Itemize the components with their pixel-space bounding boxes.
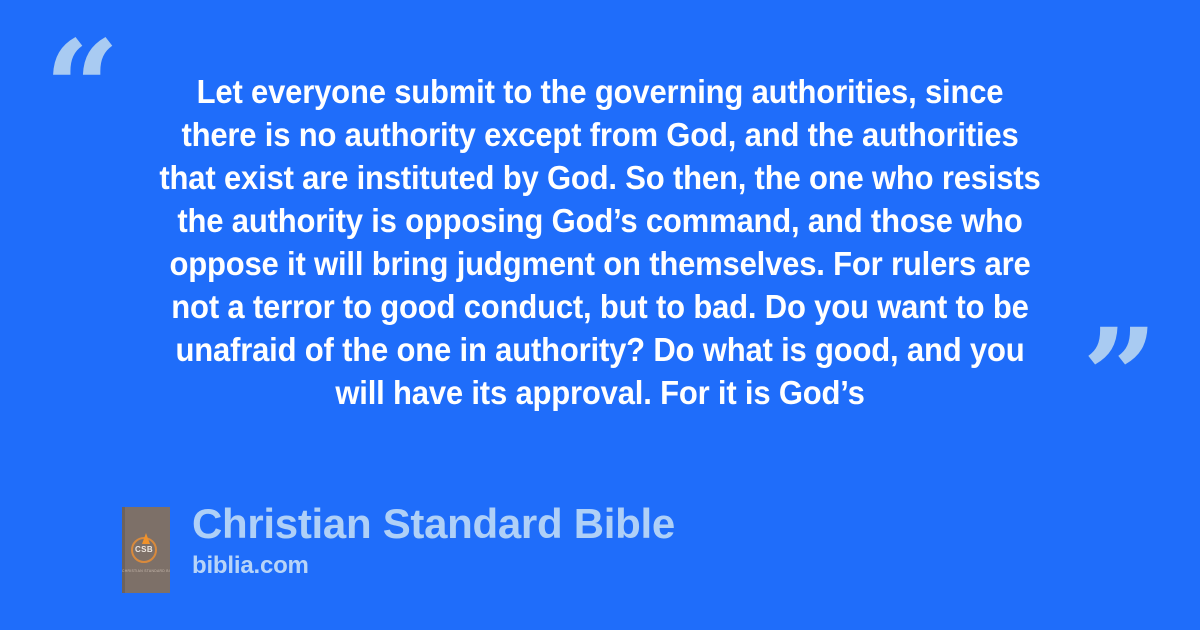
- quote-line: not a terror to good conduct, but to bad…: [139, 285, 1060, 328]
- source-attribution: CSB CHRISTIAN STANDARD BIBLE Christian S…: [122, 500, 675, 593]
- source-text-group: Christian Standard Bible biblia.com: [192, 500, 675, 580]
- quote-line: the authority is opposing God’s command,…: [139, 199, 1060, 242]
- quote-line: will have its approval. For it is God’s: [139, 371, 1060, 414]
- quote-line: there is no authority except from God, a…: [139, 113, 1060, 156]
- quote-line: oppose it will bring judgment on themsel…: [139, 242, 1060, 285]
- quote-line: Let everyone submit to the governing aut…: [139, 70, 1060, 113]
- book-spine: [122, 507, 125, 593]
- quote-card: “ Let everyone submit to the governing a…: [0, 0, 1200, 630]
- quote-line: unafraid of the one in authority? Do wha…: [139, 328, 1060, 371]
- source-title: Christian Standard Bible: [192, 500, 675, 548]
- emblem-flame-icon: [142, 533, 150, 544]
- source-url-link[interactable]: biblia.com: [192, 552, 675, 580]
- quote-text-block: Let everyone submit to the governing aut…: [110, 70, 1090, 414]
- close-quote-icon: ”: [1082, 312, 1156, 444]
- csb-emblem-icon: CSB: [131, 537, 161, 567]
- emblem-label: CSB: [131, 545, 157, 554]
- quote-line: that exist are instituted by God. So the…: [139, 156, 1060, 199]
- open-quote-icon: “: [44, 24, 118, 156]
- bible-cover-thumbnail-icon: CSB CHRISTIAN STANDARD BIBLE: [122, 507, 170, 593]
- cover-footline-text: CHRISTIAN STANDARD BIBLE: [122, 569, 170, 573]
